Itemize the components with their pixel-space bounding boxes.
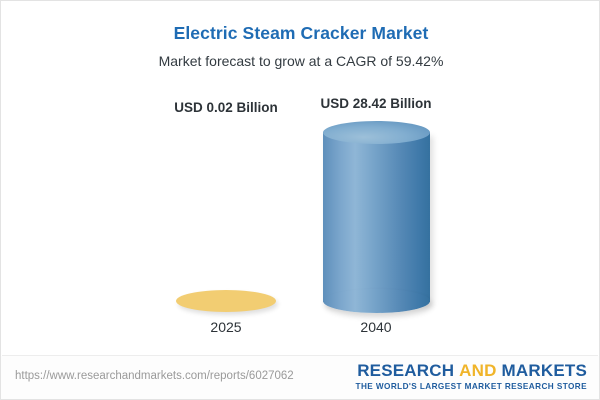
logo-word-and: AND	[459, 361, 496, 380]
research-and-markets-logo[interactable]: RESEARCH AND MARKETS THE WORLD'S LARGEST…	[356, 362, 587, 391]
bar-2040-top-cap	[323, 121, 430, 144]
bar-2040[interactable]	[323, 121, 430, 313]
page-title: Electric Steam Cracker Market	[1, 23, 600, 44]
logo-tagline: THE WORLD'S LARGEST MARKET RESEARCH STOR…	[356, 382, 587, 391]
logo-word-research: RESEARCH	[357, 361, 454, 380]
bar-2025[interactable]	[176, 290, 276, 312]
category-label-2040: 2040	[276, 319, 476, 335]
logo-wordmark: RESEARCH AND MARKETS	[356, 362, 587, 380]
bar-2040-bottom-cap	[323, 289, 430, 313]
report-url[interactable]: https://www.researchandmarkets.com/repor…	[15, 370, 294, 382]
bar-value-label-2025: USD 0.02 Billion	[126, 100, 326, 115]
chart-subtitle: Market forecast to grow at a CAGR of 59.…	[1, 53, 600, 69]
bar-2040-body	[323, 132, 430, 302]
logo-word-markets: MARKETS	[502, 361, 587, 380]
footer: https://www.researchandmarkets.com/repor…	[1, 356, 600, 400]
plot-area: USD 28.42 Billion USD 0.02 Billion 2025 …	[1, 81, 600, 346]
chart-card: Electric Steam Cracker Market Market for…	[0, 0, 600, 400]
